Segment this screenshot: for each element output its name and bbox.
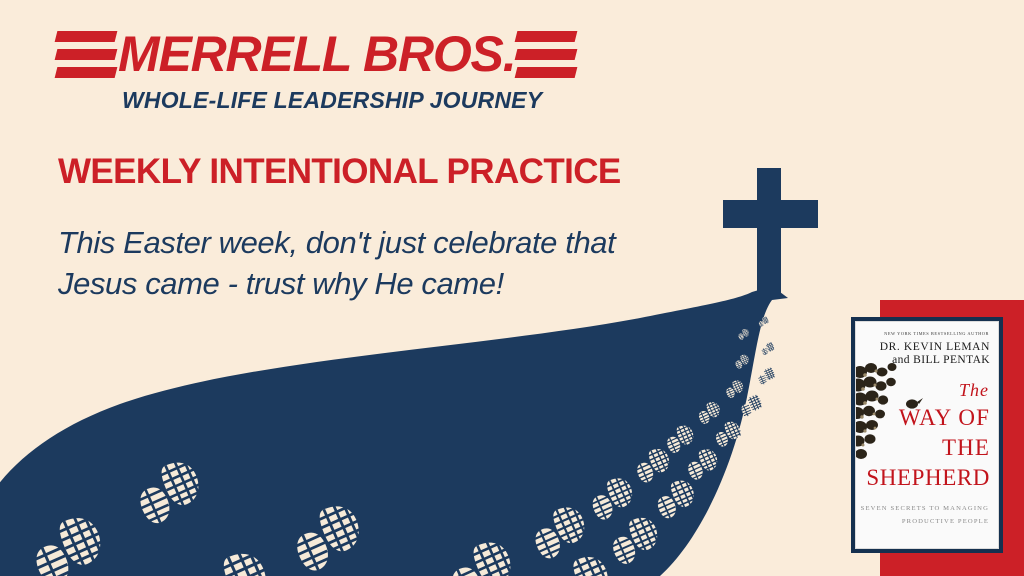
stripes-icon-left xyxy=(56,31,116,78)
book-cover: New York Times Bestselling Author DR. KE… xyxy=(851,317,1003,553)
book-title-the: The xyxy=(856,380,989,401)
body-text: This Easter week, don't just celebrate t… xyxy=(58,222,698,304)
book-title-line-2: THE xyxy=(856,436,990,459)
book-subtitle-line-1: Seven Secrets to Managing xyxy=(856,505,989,512)
cross-icon xyxy=(723,168,818,296)
page-title: WEEKLY INTENTIONAL PRACTICE xyxy=(58,152,621,192)
brand-tagline: WHOLE-LIFE LEADERSHIP JOURNEY xyxy=(122,87,656,114)
book-title-line-3: SHEPHERD xyxy=(856,466,990,489)
journey-path xyxy=(0,286,788,576)
book-title-line-1: WAY OF xyxy=(856,406,990,429)
book-author-line-1: DR. KEVIN LEMAN xyxy=(856,341,990,353)
book-subtitle-line-2: Productive People xyxy=(856,518,989,525)
brand-name: MERRELL BROS. xyxy=(118,27,515,81)
brand-logo: MERRELL BROS. WHOLE-LIFE LEADERSHIP JOUR… xyxy=(56,26,656,114)
slide-canvas: MERRELL BROS. WHOLE-LIFE LEADERSHIP JOUR… xyxy=(0,0,1024,576)
stripes-icon-right xyxy=(516,31,576,78)
book-bestseller-line: New York Times Bestselling Author xyxy=(856,331,989,336)
book-author-line-2: and BILL PENTAK xyxy=(856,354,990,366)
